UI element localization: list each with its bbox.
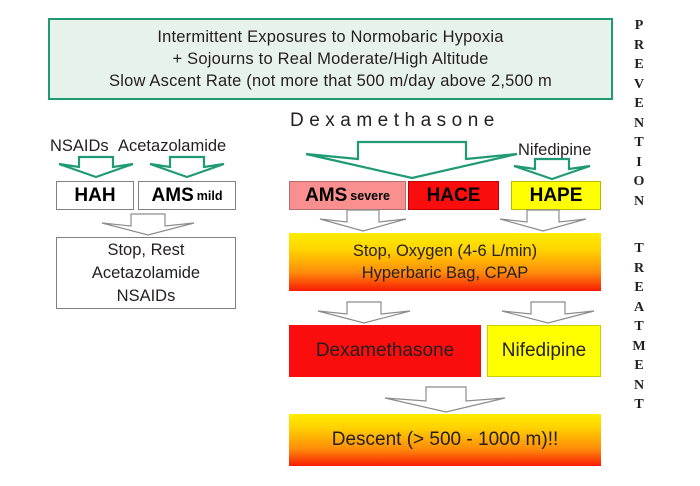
dexamethasone-header-label: Dexamethasone — [290, 110, 500, 132]
diagnosis-box-hah: HAH — [56, 181, 134, 210]
vertical-letter: I — [628, 153, 650, 173]
gray-arrow-hape-to-oxygen — [498, 209, 588, 233]
treatment-label: Descent (> 500 - 1000 m)!! — [332, 429, 559, 451]
green-arrow-nsaids-to-hah — [57, 155, 135, 179]
diagnosis-box-hape: HAPE — [511, 181, 601, 210]
treatment-line: NSAIDs — [117, 285, 176, 308]
prevention-section-label: PREVENTION — [628, 16, 650, 211]
prevention-line-3: Slow Ascent Rate (not more that 500 m/da… — [109, 70, 552, 92]
vertical-letter: R — [628, 36, 650, 56]
diagnosis-box-hace: HACE — [408, 181, 499, 210]
prevention-line-1: Intermittent Exposures to Normobaric Hyp… — [157, 26, 503, 48]
gray-arrow-mild-to-conservative-treatment — [100, 213, 196, 237]
vertical-letter: A — [628, 298, 650, 318]
diagnosis-box-ams-severe: AMS severe — [289, 181, 406, 210]
gray-arrow-oxygen-to-dexamethasone — [316, 301, 412, 325]
green-arrow-nifedipine-to-hape — [512, 157, 592, 181]
diagnosis-label: HACE — [427, 185, 481, 207]
treatment-box-oxygen: Stop, Oxygen (4-6 L/min) Hyperbaric Bag,… — [289, 233, 601, 291]
vertical-letter: R — [628, 259, 650, 279]
treatment-label: Dexamethasone — [316, 340, 454, 362]
treatment-box-conservative: Stop, Rest Acetazolamide NSAIDs — [56, 237, 236, 309]
vertical-letter: T — [628, 395, 650, 415]
vertical-letter: N — [628, 376, 650, 396]
diagnosis-severity: severe — [350, 189, 390, 203]
vertical-letter: P — [628, 16, 650, 36]
treatment-line: Stop, Oxygen (4-6 L/min) — [353, 240, 537, 262]
acetazolamide-label: Acetazolamide — [118, 137, 226, 156]
diagram-canvas: Intermittent Exposures to Normobaric Hyp… — [0, 0, 700, 486]
diagnosis-box-ams-mild: AMS mild — [138, 181, 236, 210]
gray-arrow-drugs-to-descent — [382, 386, 508, 414]
vertical-letter: O — [628, 172, 650, 192]
nifedipine-label: Nifedipine — [518, 141, 591, 160]
green-arrow-acetazolamide-to-ams-mild — [148, 155, 226, 179]
treatment-line: Acetazolamide — [92, 262, 200, 285]
vertical-letter: T — [628, 317, 650, 337]
vertical-letter: V — [628, 75, 650, 95]
prevention-line-2: + Sojourns to Real Moderate/High Altitud… — [173, 48, 489, 70]
diagnosis-severity: mild — [197, 189, 223, 203]
prevention-recommendation-box: Intermittent Exposures to Normobaric Hyp… — [48, 18, 613, 100]
nsaids-label: NSAIDs — [50, 137, 109, 156]
gray-arrow-oxygen-to-nifedipine — [500, 301, 596, 325]
diagnosis-label: HAH — [74, 185, 115, 207]
treatment-box-descent: Descent (> 500 - 1000 m)!! — [289, 414, 601, 466]
vertical-letter: E — [628, 55, 650, 75]
vertical-letter: N — [628, 114, 650, 134]
treatment-line: Hyperbaric Bag, CPAP — [362, 262, 529, 284]
diagnosis-label: AMS — [152, 185, 194, 207]
treatment-box-nifedipine: Nifedipine — [487, 325, 601, 377]
vertical-letter: E — [628, 94, 650, 114]
diagnosis-label: HAPE — [530, 185, 583, 207]
treatment-section-label: TREATMENT — [628, 239, 650, 415]
treatment-label: Nifedipine — [502, 340, 587, 362]
vertical-letter: T — [628, 133, 650, 153]
vertical-letter: E — [628, 356, 650, 376]
gray-arrow-ams-severe-to-oxygen — [318, 209, 408, 233]
treatment-box-dexamethasone: Dexamethasone — [289, 325, 481, 377]
vertical-letter: E — [628, 278, 650, 298]
vertical-letter: T — [628, 239, 650, 259]
treatment-line: Stop, Rest — [107, 239, 184, 262]
green-arrow-dexamethasone-to-severe-group — [280, 140, 520, 180]
vertical-letter: N — [628, 192, 650, 212]
diagnosis-label: AMS — [305, 185, 347, 207]
vertical-letter: M — [628, 337, 650, 357]
